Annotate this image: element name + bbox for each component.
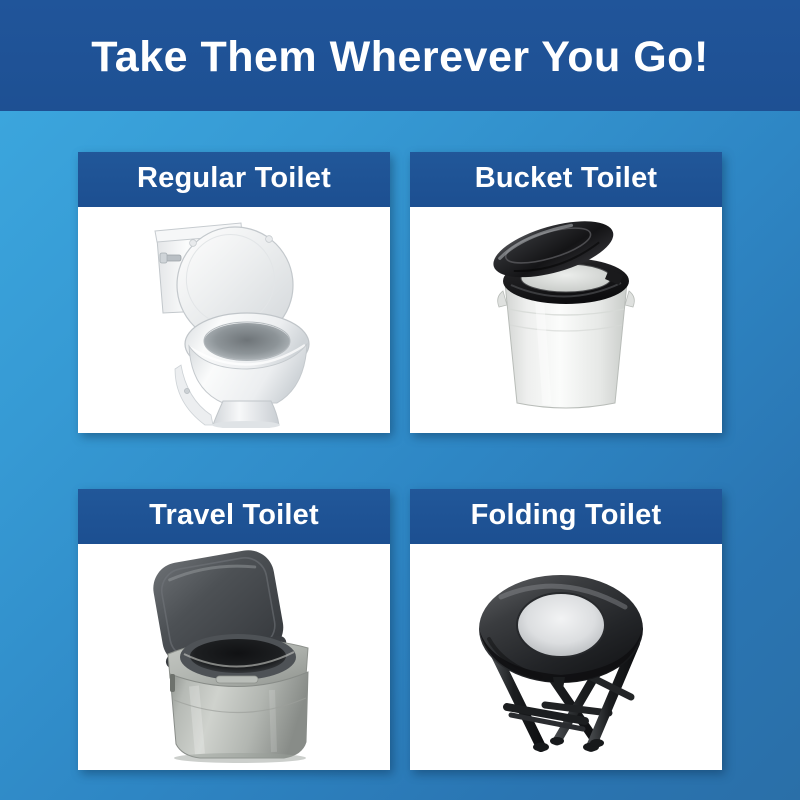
- card-body-folding-toilet: [410, 544, 722, 770]
- folding-toilet-photo: [449, 557, 684, 757]
- card-title-folding-toilet: Folding Toilet: [471, 501, 662, 532]
- card-header-travel-toilet: Travel Toilet: [78, 489, 390, 544]
- product-card-grid: Regular Toilet: [78, 152, 722, 770]
- card-header-folding-toilet: Folding Toilet: [410, 489, 722, 544]
- bucket-toilet-photo: [459, 213, 674, 428]
- card-title-regular-toilet: Regular Toilet: [137, 164, 331, 195]
- card-title-travel-toilet: Travel Toilet: [149, 501, 319, 532]
- card-body-travel-toilet: [78, 544, 390, 770]
- card-title-bucket-toilet: Bucket Toilet: [475, 164, 658, 195]
- page-title: Take Them Wherever You Go!: [0, 0, 800, 111]
- travel-toilet-photo: [122, 550, 347, 765]
- infographic-poster: Take Them Wherever You Go! Regular Toile…: [0, 0, 800, 800]
- card-body-regular-toilet: [78, 207, 390, 433]
- regular-toilet-photo: [119, 213, 349, 428]
- header-banner: Take Them Wherever You Go!: [0, 0, 800, 111]
- card-header-regular-toilet: Regular Toilet: [78, 152, 390, 207]
- card-header-bucket-toilet: Bucket Toilet: [410, 152, 722, 207]
- card-body-bucket-toilet: [410, 207, 722, 433]
- product-card-regular-toilet[interactable]: Regular Toilet: [78, 152, 390, 433]
- product-card-travel-toilet[interactable]: Travel Toilet: [78, 489, 390, 770]
- product-card-bucket-toilet[interactable]: Bucket Toilet: [410, 152, 722, 433]
- product-card-folding-toilet[interactable]: Folding Toilet: [410, 489, 722, 770]
